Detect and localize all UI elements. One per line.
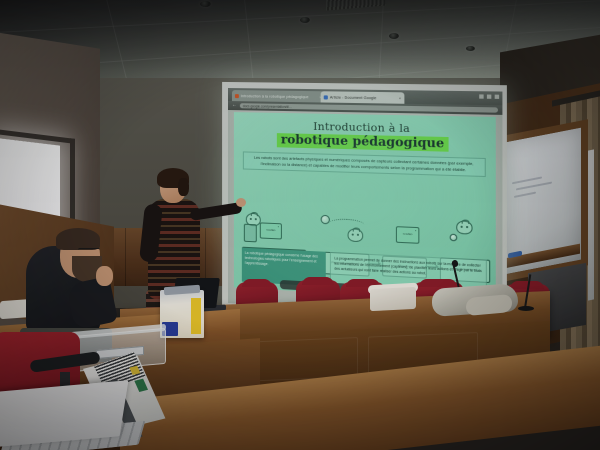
- slide-intro-paragraph: Les robots sont des artefacts physiques …: [243, 151, 486, 176]
- foreground-laptop: [0, 386, 152, 450]
- back-arrow-icon[interactable]: ←: [232, 103, 237, 108]
- browser-tab-title: Introduction à la robotique pédagogique: [241, 94, 309, 99]
- code-window-icon: <code>: [260, 222, 282, 239]
- tablet-icon: [244, 224, 257, 243]
- slide-title-line2: robotique pédagogique: [277, 133, 449, 151]
- ball-icon: [450, 234, 458, 242]
- presenter-hair-side: [178, 178, 189, 196]
- minimize-icon[interactable]: [479, 94, 483, 98]
- snack-bag-crimp: [164, 285, 200, 295]
- close-window-icon[interactable]: [495, 95, 499, 99]
- conference-phone: [370, 287, 416, 311]
- snack-bag: [160, 290, 204, 338]
- room-photo-scene: Introduction à la robotique pédagogique …: [0, 0, 600, 450]
- attendee-hand: [96, 266, 113, 286]
- microphone-base: [518, 306, 534, 311]
- slide-content: Introduction à la robotique pédagogique …: [234, 112, 496, 302]
- browser-tab-title: Article - Document Google: [330, 95, 377, 100]
- favicon-icon: [235, 94, 239, 98]
- attendee-hair: [56, 228, 100, 250]
- code-label: <code>: [397, 232, 418, 236]
- attendee-glasses: [78, 248, 100, 254]
- presenter-right-arm: [189, 202, 242, 221]
- browser-tab[interactable]: Introduction à la robotique pédagogique …: [232, 90, 325, 102]
- presenter-hand: [236, 198, 246, 207]
- code-window-icon: <code>: [396, 226, 419, 244]
- code-label: <code>: [261, 228, 281, 232]
- character-head-icon: [348, 228, 364, 242]
- snack-bag-label: [191, 298, 201, 334]
- character-head-icon: [456, 220, 472, 234]
- maximize-icon[interactable]: [487, 95, 491, 99]
- window-controls[interactable]: [479, 94, 499, 99]
- close-icon[interactable]: ×: [399, 96, 401, 100]
- browser-tab-active[interactable]: Article - Document Google ×: [321, 91, 405, 104]
- slide-illustrations: <code> <code>: [242, 211, 487, 253]
- curtain-light-gap: [588, 149, 594, 300]
- favicon-icon: [324, 95, 328, 99]
